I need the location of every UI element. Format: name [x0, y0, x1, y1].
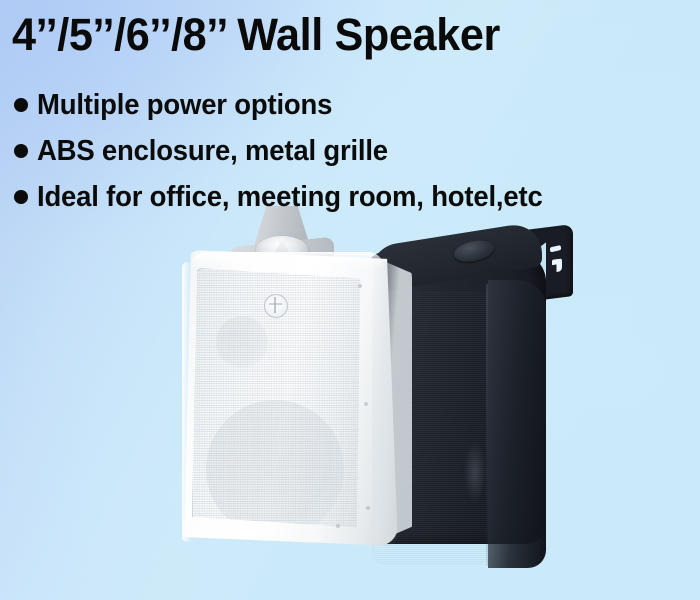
- feature-item: Multiple power options: [14, 82, 561, 128]
- bullet-dot-icon: [14, 98, 28, 112]
- white-speaker-logo-badge: [264, 294, 288, 318]
- feature-list: Multiple power options ABS enclosure, me…: [14, 82, 561, 220]
- feature-label: Multiple power options: [37, 89, 332, 122]
- bullet-dot-icon: [14, 190, 28, 204]
- white-speaker-woofer: [206, 400, 344, 530]
- black-speaker-specular-highlight: [464, 442, 486, 502]
- white-speaker-tweeter: [216, 316, 268, 368]
- feature-label: Ideal for office, meeting room, hotel,et…: [37, 181, 543, 214]
- white-speaker-top-highlight: [190, 252, 384, 268]
- page-title: 4’’/5’’/6’’/8’’ Wall Speaker: [12, 9, 500, 61]
- white-wall-speaker: [176, 206, 412, 550]
- white-speaker-edge-highlight: [182, 262, 192, 542]
- bracket-mounting-slot: [550, 245, 561, 252]
- black-speaker-swivel-knob: [454, 238, 494, 264]
- white-speaker-mesh-grille: [192, 268, 362, 530]
- black-speaker-side-panel: [488, 280, 546, 568]
- bracket-mounting-slot: [552, 258, 562, 272]
- white-speaker-side-panel: [372, 256, 412, 544]
- feature-item: ABS enclosure, metal grille: [14, 128, 561, 174]
- feature-label: ABS enclosure, metal grille: [37, 135, 388, 168]
- bullet-dot-icon: [14, 144, 28, 158]
- cabinet-screw: [364, 402, 368, 406]
- cabinet-screw: [358, 284, 362, 288]
- feature-item: Ideal for office, meeting room, hotel,et…: [14, 174, 561, 220]
- cabinet-screw: [366, 506, 370, 510]
- product-banner: 4’’/5’’/6’’/8’’ Wall Speaker Multiple po…: [0, 0, 700, 600]
- black-speaker-edge-seam: [486, 284, 488, 566]
- cabinet-screw: [336, 524, 340, 528]
